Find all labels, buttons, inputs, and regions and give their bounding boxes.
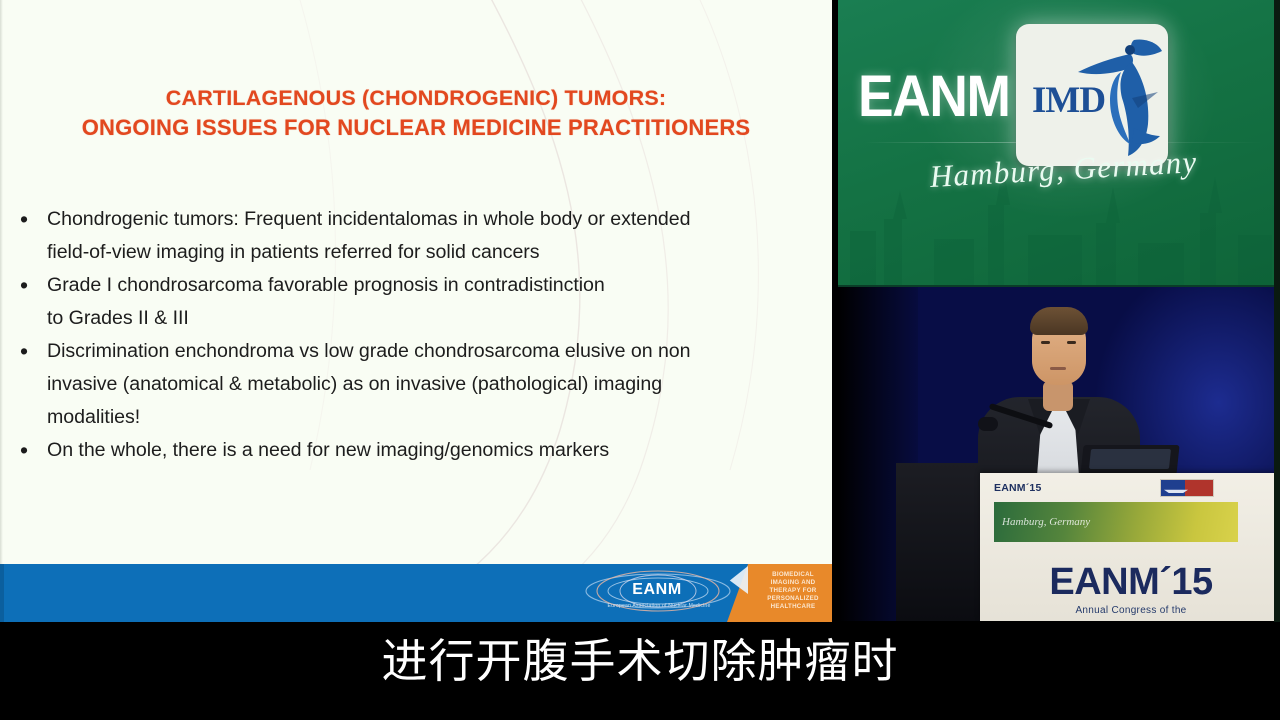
eanm-footer-logo: EANM European Association of Nuclear Med…: [582, 566, 734, 620]
bullet-text: Grade I chondrosarcoma favorable prognos…: [47, 269, 822, 334]
tagline-line: HEALTHCARE: [754, 603, 832, 611]
slide-title: CARTILAGENOUS (CHONDROGENIC) TUMORS: ONG…: [0, 84, 832, 142]
tagline-line: PERSONALIZED: [754, 595, 832, 603]
tagline-text: BIOMEDICAL IMAGING AND THERAPY FOR PERSO…: [754, 566, 832, 620]
bullet-line: Discrimination enchondroma vs low grade …: [47, 335, 822, 368]
podium-main-label: EANM´15: [980, 561, 1280, 604]
tagline-line: IMAGING AND: [754, 579, 832, 587]
tagline-line: THERAPY FOR: [754, 587, 832, 595]
speaker-eye-right: [1067, 341, 1076, 344]
speaker-hair: [1030, 307, 1088, 335]
right-gutter: [1274, 0, 1280, 622]
bullet-marker-icon: •: [20, 269, 28, 302]
bullet-line: On the whole, there is a need for new im…: [47, 434, 822, 467]
video-player-stage: CARTILAGENOUS (CHONDROGENIC) TUMORS: ONG…: [0, 0, 1280, 720]
podium-flag-graphic: [1160, 479, 1214, 497]
bullet-marker-icon: •: [20, 434, 28, 467]
tagline-line: BIOMEDICAL: [754, 571, 832, 579]
list-item: • On the whole, there is a need for new …: [10, 434, 822, 467]
presentation-slide: CARTILAGENOUS (CHONDROGENIC) TUMORS: ONG…: [0, 0, 832, 622]
bullet-line: Grade I chondrosarcoma favorable prognos…: [47, 269, 822, 302]
slide-title-line-1: CARTILAGENOUS (CHONDROGENIC) TUMORS:: [0, 84, 832, 113]
slide-bullet-list: • Chondrogenic tumors: Frequent incident…: [10, 203, 822, 468]
speaker-mouth: [1050, 367, 1066, 370]
lectern-signage: EANM´15 Hamburg, Germany EANM´15 Annual …: [980, 473, 1280, 621]
podium-side-panel: [896, 463, 988, 621]
podium-banner-graphic: Hamburg, Germany: [994, 502, 1238, 542]
video-top-border: [838, 285, 1280, 287]
podium-banner-script: Hamburg, Germany: [1002, 516, 1090, 528]
subtitle-text: 进行开腹手术切除肿瘤时: [0, 630, 1280, 692]
microphone-head-icon: [978, 417, 998, 431]
bullet-text: On the whole, there is a need for new im…: [47, 434, 822, 467]
bullet-line: to Grades II & III: [47, 302, 822, 335]
bullet-line: Chondrogenic tumors: Frequent incidental…: [47, 203, 822, 236]
bullet-marker-icon: •: [20, 203, 28, 236]
speaker-eye-left: [1041, 341, 1050, 344]
list-item: • Chondrogenic tumors: Frequent incident…: [10, 203, 822, 268]
slide-title-line-2: ONGOING ISSUES FOR NUCLEAR MEDICINE PRAC…: [0, 113, 832, 142]
podium-annual-label: Annual Congress of the: [980, 605, 1280, 616]
bullet-line: modalities!: [47, 401, 822, 434]
podium-laptop-screen: [1089, 449, 1171, 469]
eanm-brand-wordmark: EANM: [858, 68, 1033, 126]
slide-footer-band-edge: [0, 564, 4, 622]
list-item: • Grade I chondrosarcoma favorable progn…: [10, 269, 822, 334]
eanm-footer-wordmark: EANM: [618, 581, 696, 599]
bullet-line: field-of-view imaging in patients referr…: [47, 236, 822, 269]
bullet-line: invasive (anatomical & metabolic) as on …: [47, 368, 822, 401]
list-item: • Discrimination enchondroma vs low grad…: [10, 335, 822, 433]
bullet-text: Discrimination enchondroma vs low grade …: [47, 335, 822, 433]
bullet-text: Chondrogenic tumors: Frequent incidental…: [47, 203, 822, 268]
bullet-marker-icon: •: [20, 335, 28, 368]
podium-small-label: EANM´15: [994, 482, 1042, 494]
live-video-feed[interactable]: EANM´15 Hamburg, Germany EANM´15 Annual …: [838, 285, 1280, 621]
speaker-neck: [1043, 381, 1073, 411]
eanm-footer-subtitle: European Association of Nuclear Medicine: [586, 603, 732, 609]
